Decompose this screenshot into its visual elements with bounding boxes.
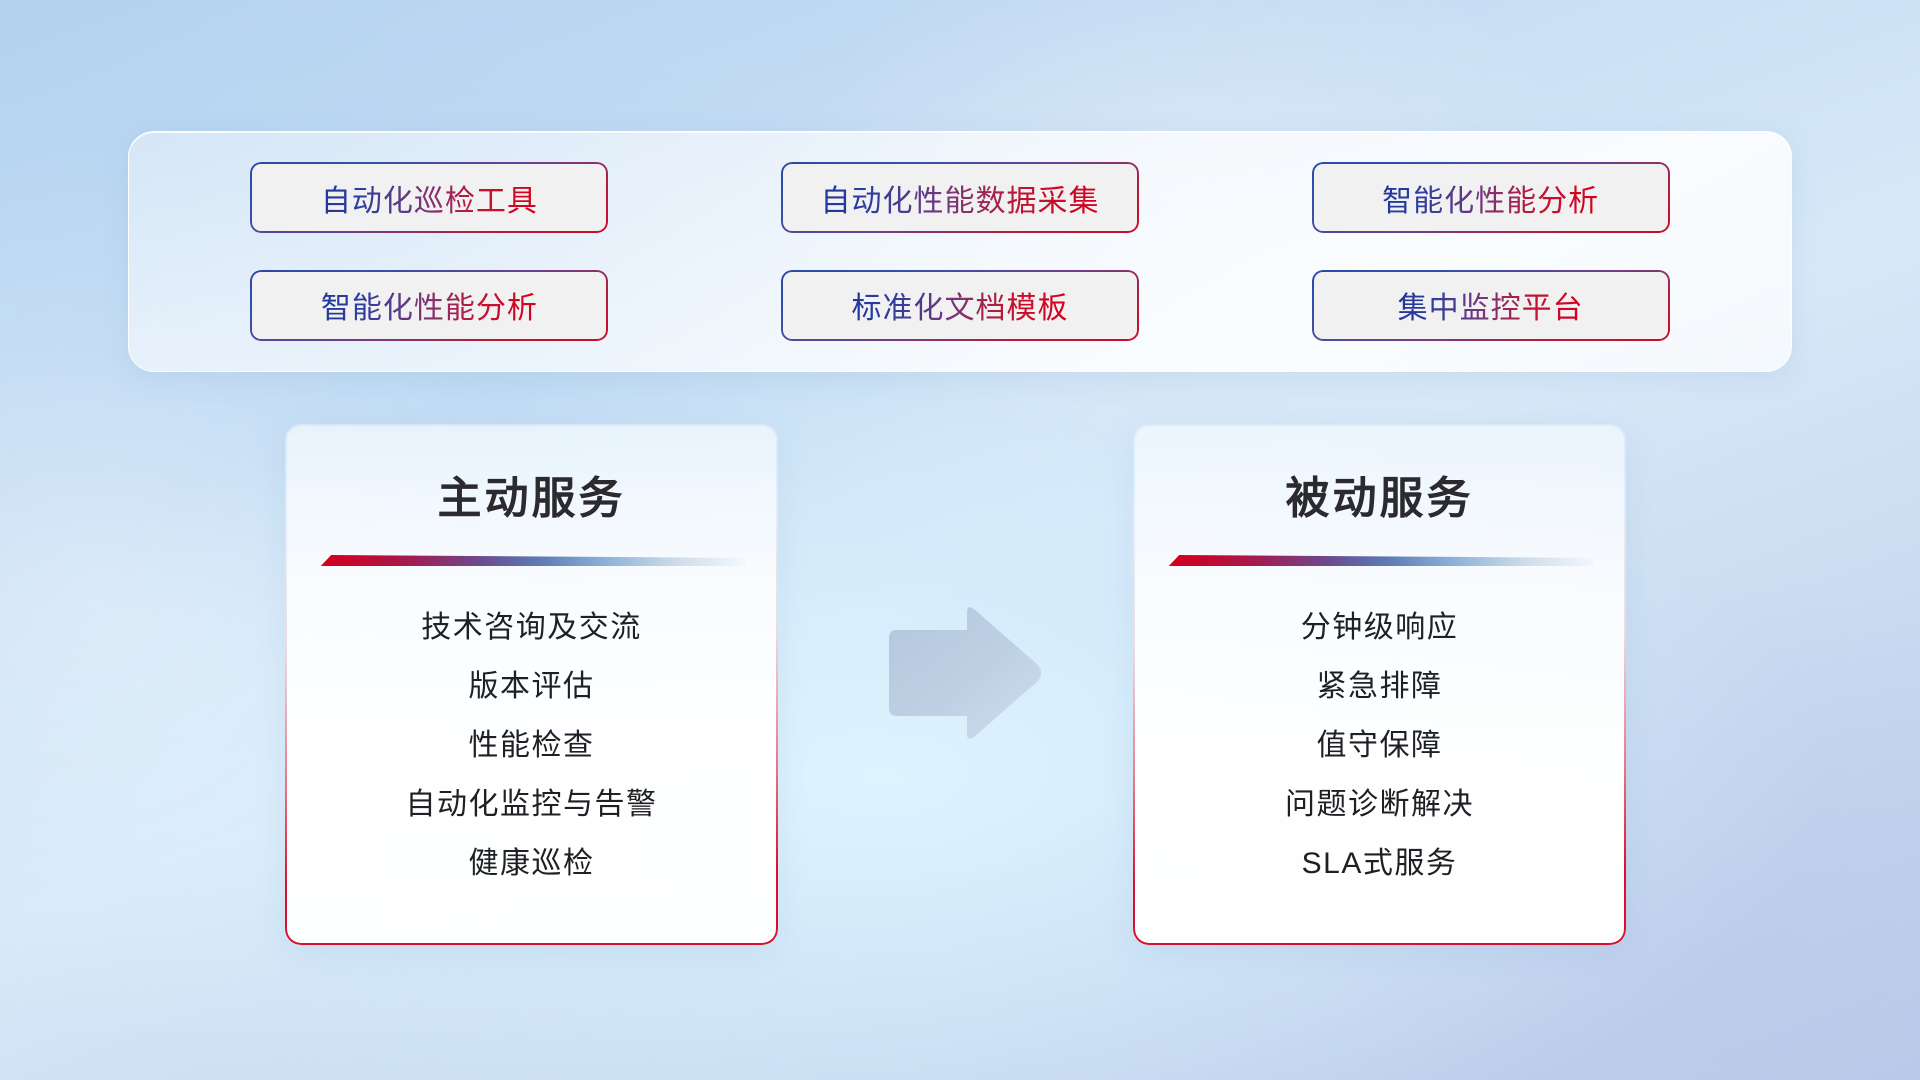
card-title: 主动服务	[285, 462, 778, 526]
list-item: 自动化监控与告警	[285, 776, 778, 835]
service-card-reactive: 被动服务 分钟级响应 紧急排障 值守保障 问题诊断解决 SLA式服务	[1133, 424, 1626, 945]
card-item-list: 技术咨询及交流 版本评估 性能检查 自动化监控与告警 健康巡检	[285, 599, 778, 894]
tag-button-automated-inspection-tool[interactable]: 自动化巡检工具	[250, 162, 608, 233]
list-item: SLA式服务	[1133, 835, 1626, 894]
tag-button-intelligent-performance-analysis[interactable]: 智能化性能分析	[1312, 162, 1670, 233]
service-card-proactive: 主动服务 技术咨询及交流 版本评估 性能检查 自动化监控与告警 健康巡检	[285, 424, 778, 945]
tag-label: 标准化文档模板	[851, 283, 1068, 327]
arrow-right-icon	[881, 603, 1044, 744]
card-title-divider	[1165, 555, 1594, 566]
list-item: 技术咨询及交流	[285, 599, 778, 658]
tag-button-intelligent-performance-analysis-2[interactable]: 智能化性能分析	[250, 270, 608, 341]
tag-label: 自动化性能数据采集	[820, 176, 1099, 220]
card-title-divider	[317, 555, 746, 566]
capability-tags-panel: 自动化巡检工具 自动化性能数据采集 智能化性能分析 智能化性能分析 标准化文档模…	[128, 131, 1792, 372]
capability-tags-grid: 自动化巡检工具 自动化性能数据采集 智能化性能分析 智能化性能分析 标准化文档模…	[129, 132, 1791, 371]
list-item: 性能检查	[285, 717, 778, 776]
list-item: 健康巡检	[285, 835, 778, 894]
tag-button-centralized-monitoring-platform[interactable]: 集中监控平台	[1312, 270, 1670, 341]
card-title: 被动服务	[1133, 462, 1626, 526]
tag-label: 集中监控平台	[1398, 283, 1584, 327]
tag-label: 智能化性能分析	[321, 283, 538, 327]
card-item-list: 分钟级响应 紧急排障 值守保障 问题诊断解决 SLA式服务	[1133, 599, 1626, 894]
tag-button-standardized-document-template[interactable]: 标准化文档模板	[781, 270, 1139, 341]
list-item: 分钟级响应	[1133, 599, 1626, 658]
list-item: 值守保障	[1133, 717, 1626, 776]
tag-button-automated-performance-data-collection[interactable]: 自动化性能数据采集	[781, 162, 1139, 233]
tag-label: 智能化性能分析	[1382, 176, 1599, 220]
list-item: 问题诊断解决	[1133, 776, 1626, 835]
list-item: 紧急排障	[1133, 658, 1626, 717]
tag-label: 自动化巡检工具	[321, 176, 538, 220]
list-item: 版本评估	[285, 658, 778, 717]
